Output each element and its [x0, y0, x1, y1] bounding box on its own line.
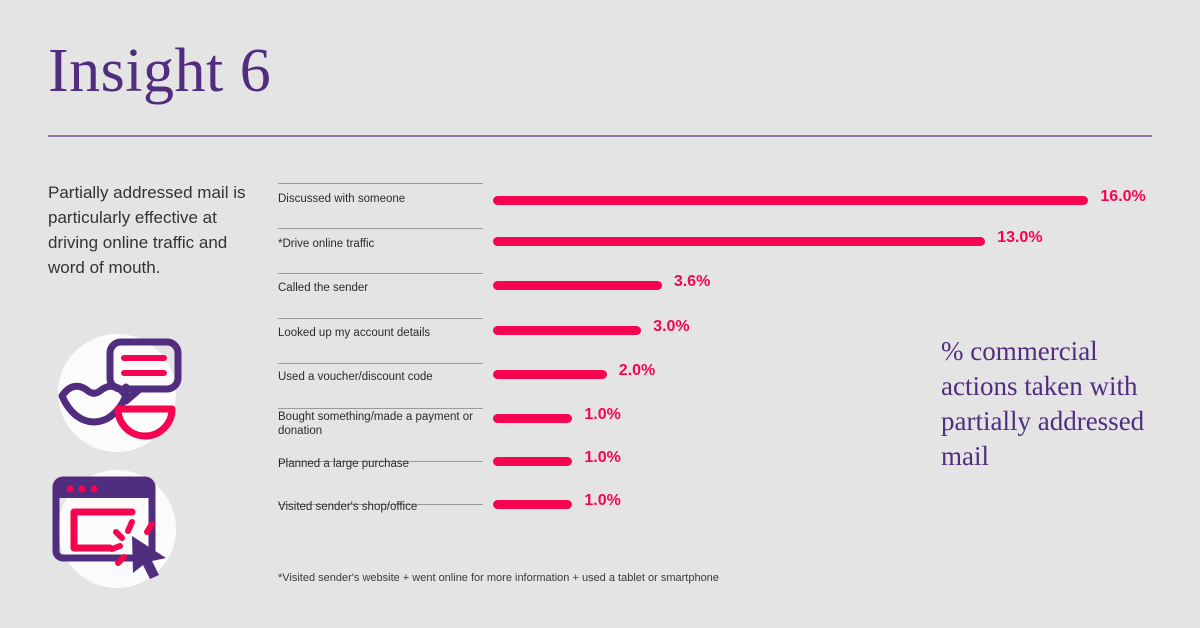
bar — [493, 237, 985, 246]
bar-value-label: 1.0% — [584, 449, 620, 467]
speech-lips-icon — [48, 334, 188, 452]
category-label: Planned a large purchase — [278, 457, 488, 471]
chart-caption: % commercial actions taken with partiall… — [941, 334, 1156, 474]
bar — [493, 196, 1088, 205]
row-separator — [278, 228, 483, 229]
category-label: Used a voucher/discount code — [278, 370, 488, 384]
bar-value-label: 13.0% — [997, 229, 1042, 247]
header-divider — [48, 135, 1152, 137]
insight-slide: Insight 6 Partially addressed mail is pa… — [0, 0, 1200, 628]
browser-click-glyph — [48, 470, 188, 588]
bar — [493, 414, 572, 423]
bar-value-label: 1.0% — [584, 492, 620, 510]
chart-footnote: *Visited sender's website + went online … — [278, 572, 719, 584]
bar — [493, 281, 662, 290]
browser-click-icon — [48, 470, 188, 588]
category-label: Discussed with someone — [278, 192, 488, 206]
bar-value-label: 1.0% — [584, 406, 620, 424]
bar-value-label: 3.6% — [674, 273, 710, 291]
category-label: Looked up my account details — [278, 326, 488, 340]
page-title: Insight 6 — [48, 40, 271, 102]
category-label: Called the sender — [278, 281, 488, 295]
bar — [493, 370, 607, 379]
bar-value-label: 3.0% — [653, 318, 689, 336]
category-label: *Drive online traffic — [278, 237, 488, 251]
category-label: Visited sender's shop/office — [278, 500, 488, 514]
row-separator — [278, 408, 483, 409]
speech-lips-glyph — [48, 334, 188, 452]
lead-paragraph: Partially addressed mail is particularly… — [48, 180, 263, 280]
row-separator — [278, 363, 483, 364]
row-separator — [278, 318, 483, 319]
category-label: Bought something/made a payment or donat… — [278, 410, 488, 438]
bar — [493, 500, 572, 509]
bar — [493, 326, 641, 335]
row-separator — [278, 273, 483, 274]
bar — [493, 457, 572, 466]
bar-value-label: 2.0% — [619, 362, 655, 380]
bar-value-label: 16.0% — [1100, 188, 1145, 206]
row-separator — [278, 183, 483, 184]
